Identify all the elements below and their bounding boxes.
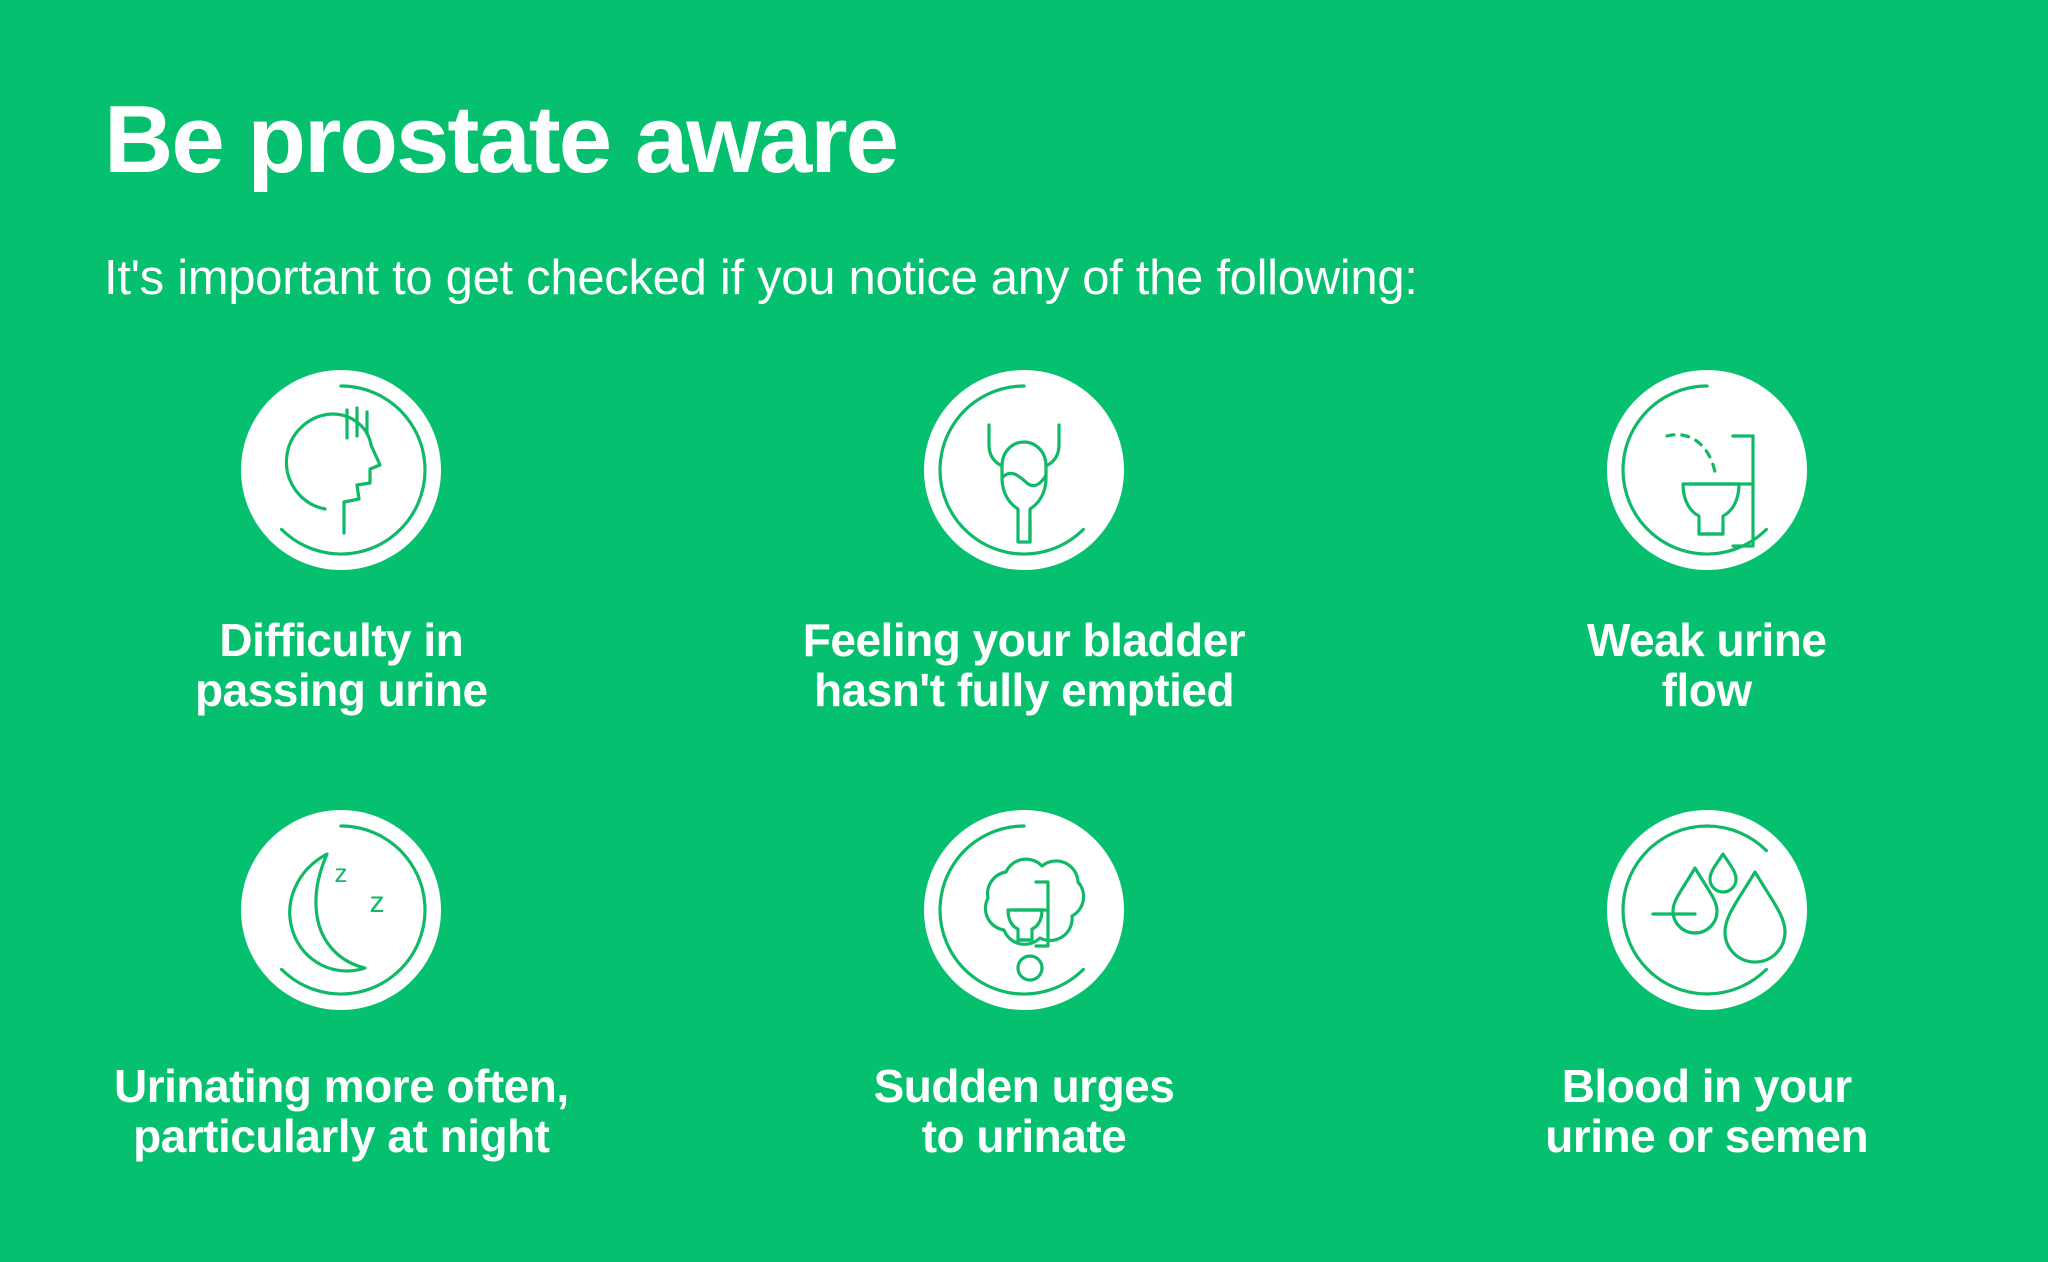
symptom-card-weak-urine-flow: Weak urine flow (1365, 370, 2048, 810)
symptom-label: Weak urine flow (1587, 616, 1827, 715)
symptom-card-bladder-not-emptied: Feeling your bladder hasn't fully emptie… (683, 370, 1366, 810)
bladder-partially-full-icon (924, 370, 1124, 570)
crescent-moon-sleep-icon: z z (241, 810, 441, 1010)
symptom-label: Difficulty in passing urine (195, 616, 488, 715)
symptom-label: Urinating more often, particularly at ni… (114, 1062, 569, 1161)
symptom-label: Feeling your bladder hasn't fully emptie… (803, 616, 1245, 715)
symptom-card-blood-in-urine: Blood in your urine or semen (1365, 810, 2048, 1250)
thought-bubble-toilet-icon (924, 810, 1124, 1010)
toilet-weak-stream-icon (1607, 370, 1807, 570)
blood-droplets-icon (1607, 810, 1807, 1010)
symptom-card-sudden-urges: Sudden urges to urinate (683, 810, 1366, 1250)
symptom-card-nocturia: z z Urinating more often, particularly a… (0, 810, 683, 1250)
head-profile-strain-icon (241, 370, 441, 570)
page-title: Be prostate aware (104, 92, 897, 188)
symptom-label: Blood in your urine or semen (1545, 1062, 1868, 1161)
page-subtitle: It's important to get checked if you not… (104, 254, 1418, 303)
symptom-card-difficulty-passing-urine: Difficulty in passing urine (0, 370, 683, 810)
symptom-grid: Difficulty in passing urine Feeling your… (0, 370, 2048, 1250)
svg-text:z: z (335, 858, 348, 888)
svg-text:z: z (370, 886, 385, 919)
symptom-label: Sudden urges to urinate (874, 1062, 1175, 1161)
